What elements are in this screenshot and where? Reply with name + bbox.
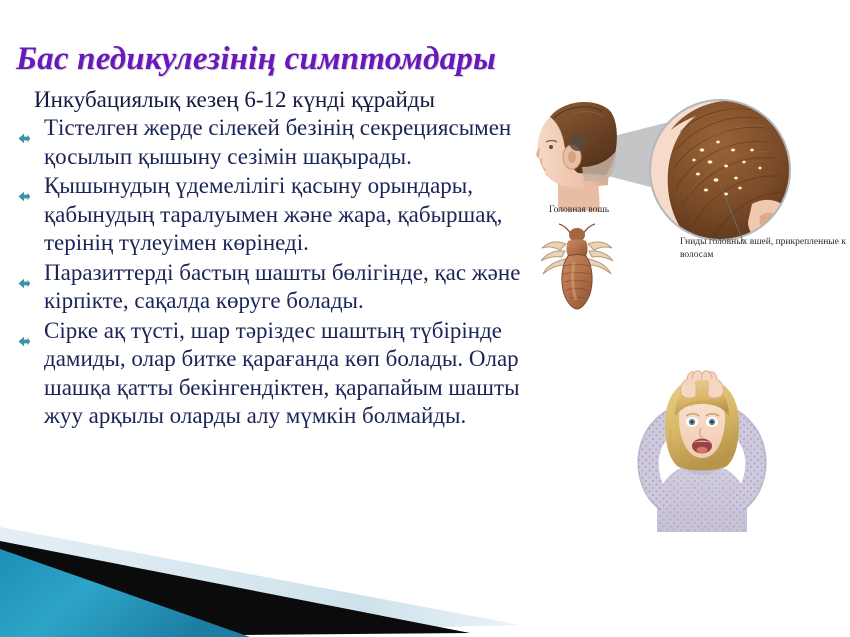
list-item: Тістелген жерде сілекей безінің секреция… xyxy=(18,114,538,171)
girl-scratching-head-photo xyxy=(595,360,810,540)
slide-canvas: Бас педикулезінің симптомдары Инкубациял… xyxy=(0,0,850,637)
deco-band-pale xyxy=(0,527,520,637)
arrow-left-icon xyxy=(18,123,33,134)
list-item: Паразиттерді бастың шашты бөлігінде, қас… xyxy=(18,259,538,316)
deco-band-black xyxy=(0,541,470,637)
content-text-block: Инкубациялық кезең 6-12 күнді құрайды Ті… xyxy=(18,86,538,432)
magnified-scalp-circle xyxy=(640,92,800,252)
boy-head-profile-illustration xyxy=(522,95,626,213)
arrow-left-icon xyxy=(18,268,33,279)
symptom-list: Тістелген жерде сілекей безінің секреция… xyxy=(18,114,538,431)
head-louse-illustration xyxy=(538,220,616,312)
list-item-text: Тістелген жерде сілекей безінің секреция… xyxy=(44,115,511,169)
deco-band-teal xyxy=(0,549,250,637)
page-title: Бас педикулезінің симптомдары xyxy=(16,40,656,78)
arrow-left-icon xyxy=(18,181,33,192)
list-item-text: Сірке ақ түсті, шар тәріздес шаштың түбі… xyxy=(44,318,520,429)
louse-caption: Головная вошь xyxy=(524,204,634,216)
list-item: Сірке ақ түсті, шар тәріздес шаштың түбі… xyxy=(18,317,538,431)
arrow-left-icon xyxy=(18,326,33,337)
list-item-text: Паразиттерді бастың шашты бөлігінде, қас… xyxy=(44,260,520,314)
head-lice-diagram: Головная вошь xyxy=(512,92,850,292)
list-item-text: Қышынудың үдемелілігі қасыну орындары, қ… xyxy=(44,173,502,255)
nit-caption: Гниды головных вшей, прикрепленные к вол… xyxy=(680,236,850,262)
list-item: Қышынудың үдемелілігі қасыну орындары, қ… xyxy=(18,172,538,258)
intro-line: Инкубациялық кезең 6-12 күнді құрайды xyxy=(18,86,538,114)
